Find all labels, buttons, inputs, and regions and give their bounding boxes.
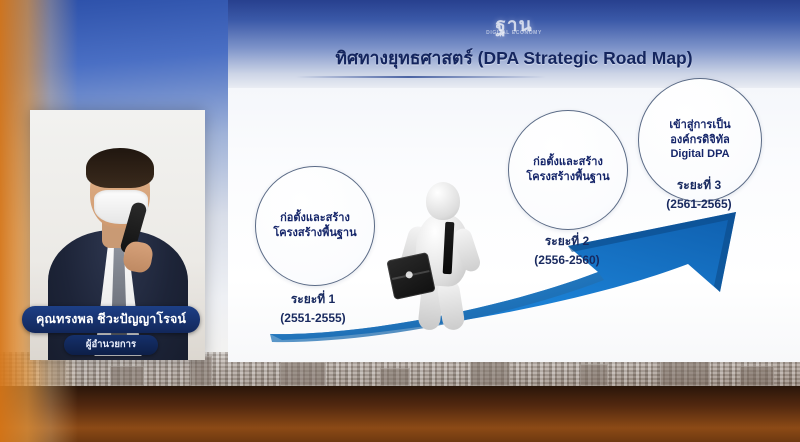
phase-1-line-1: ก่อตั้งและสร้าง <box>280 211 350 226</box>
briefcase-icon <box>386 252 435 300</box>
broadcast-frame: คุณทรงพล ชีวะปัญญาโรจน์ ผู้อำนวยการ ฐาน … <box>0 0 800 442</box>
channel-logo-subtitle: DIGITAL ECONOMY <box>486 30 542 36</box>
phase-2-line-2: โครงสร้างพื้นฐาน <box>526 170 609 185</box>
phase-2-line-1: ก่อตั้งและสร้าง <box>533 155 603 170</box>
figure-right-leg <box>436 279 466 332</box>
phase-1-caption-title: ระยะที่ 1 <box>238 290 388 309</box>
phase-3-caption-years: (2561-2565) <box>624 195 774 214</box>
presentation-slide: ฐาน DIGITAL ECONOMY ทิศทางยุทธศาสตร์ (DP… <box>228 0 800 362</box>
phase-3-line-3: Digital DPA <box>670 147 729 162</box>
lower-third-band <box>0 386 800 442</box>
figure-head <box>426 182 460 220</box>
phase-2-bubble: ก่อตั้งและสร้าง โครงสร้างพื้นฐาน <box>508 110 628 230</box>
phase-3-caption-title: ระยะที่ 3 <box>624 176 774 195</box>
walking-businessman-figure <box>396 182 488 334</box>
phase-1-line-2: โครงสร้างพื้นฐาน <box>273 226 356 241</box>
phase-1-caption: ระยะที่ 1 (2551-2555) <box>238 290 388 327</box>
speaker-name: คุณทรงพล ชีวะปัญญาโรจน์ <box>22 306 200 333</box>
phase-2-caption-title: ระยะที่ 2 <box>492 232 642 251</box>
speaker-role: ผู้อำนวยการ <box>64 335 158 355</box>
phase-3-caption: ระยะที่ 3 (2561-2565) <box>624 176 774 213</box>
phase-1-caption-years: (2551-2555) <box>238 309 388 328</box>
speaker-hair <box>86 148 154 188</box>
title-underline <box>296 76 546 78</box>
phase-2-caption: ระยะที่ 2 (2556-2560) <box>492 232 642 269</box>
phase-2-caption-years: (2556-2560) <box>492 251 642 270</box>
phase-3-line-1: เข้าสู่การเป็น <box>669 118 730 133</box>
phase-3-line-2: องค์กรดิจิทัล <box>670 133 730 148</box>
speaker-nameplate: คุณทรงพล ชีวะปัญญาโรจน์ ผู้อำนวยการ <box>16 306 206 355</box>
phase-1-bubble: ก่อตั้งและสร้าง โครงสร้างพื้นฐาน <box>255 166 375 286</box>
slide-title: ทิศทางยุทธศาสตร์ (DPA Strategic Road Map… <box>228 44 800 72</box>
